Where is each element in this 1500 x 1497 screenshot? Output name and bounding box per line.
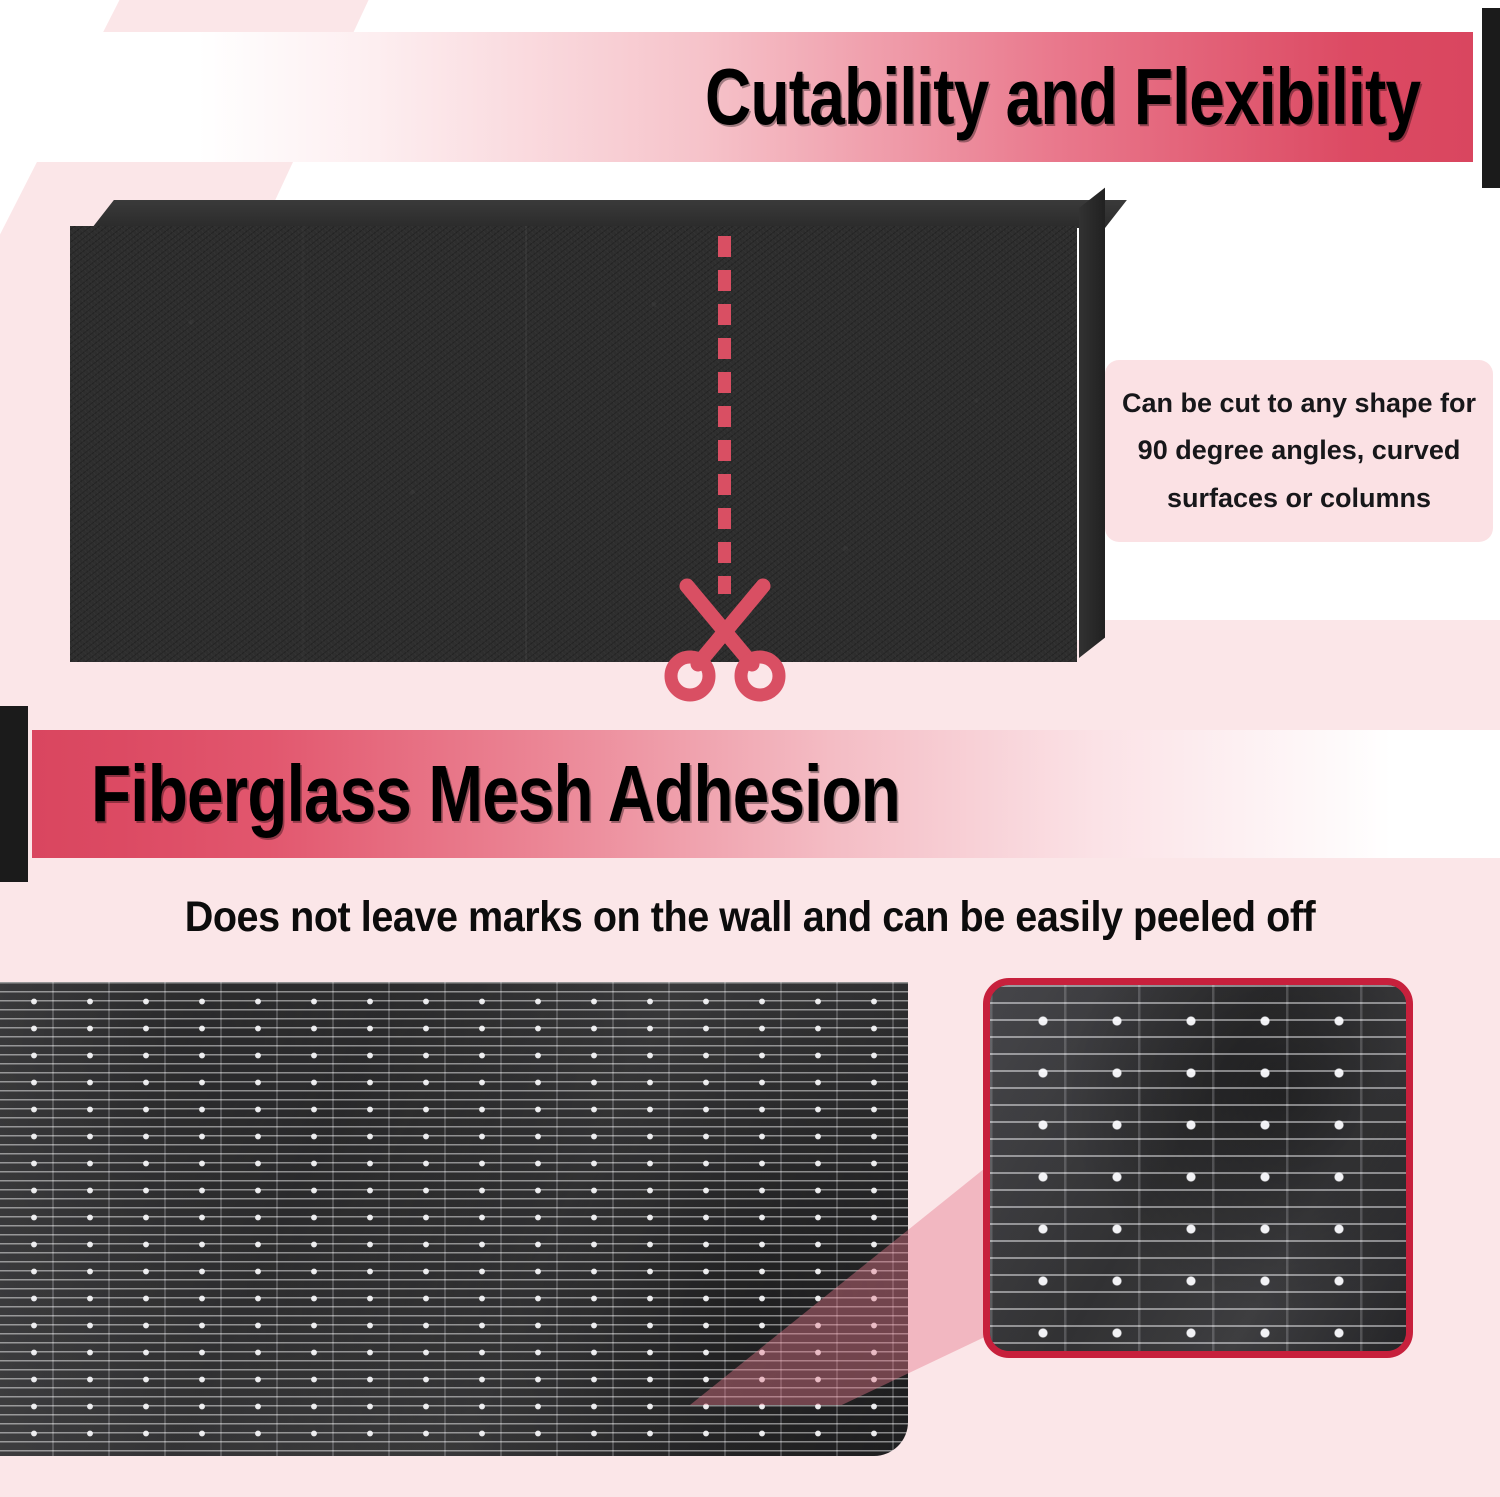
- section-two-subtitle: Does not leave marks on the wall and can…: [60, 893, 1440, 942]
- foam-panel-seam-right: [525, 226, 527, 662]
- mesh-inset-dot-grid-overlay: [990, 985, 1406, 1351]
- section-one-title: Cutability and Flexibility: [705, 51, 1473, 143]
- foam-panel-top-edge: [92, 200, 1127, 228]
- scissors-icon: [660, 578, 790, 703]
- callout-line-2: 90 degree angles, curved: [1138, 427, 1461, 474]
- section-two-banner: Fiberglass Mesh Adhesion: [32, 730, 1500, 858]
- banner-accent-bar-bottom: [0, 706, 28, 882]
- banner-accent-bar-top: [1482, 8, 1500, 188]
- foam-panel-front-face: [70, 226, 1077, 662]
- section-one-banner: Cutability and Flexibility: [0, 32, 1473, 162]
- foam-panel-image: [70, 200, 1105, 670]
- foam-panel-seam-left: [302, 226, 304, 662]
- cutability-callout-box: Can be cut to any shape for 90 degree an…: [1105, 360, 1493, 542]
- dashed-cut-line-icon: [718, 236, 731, 594]
- fiberglass-mesh-inset-image: [983, 978, 1413, 1358]
- section-two-title: Fiberglass Mesh Adhesion: [32, 748, 900, 840]
- callout-line-1: Can be cut to any shape for: [1122, 380, 1476, 427]
- foam-panel-side-edge: [1079, 188, 1105, 658]
- callout-line-3: surfaces or columns: [1167, 475, 1431, 522]
